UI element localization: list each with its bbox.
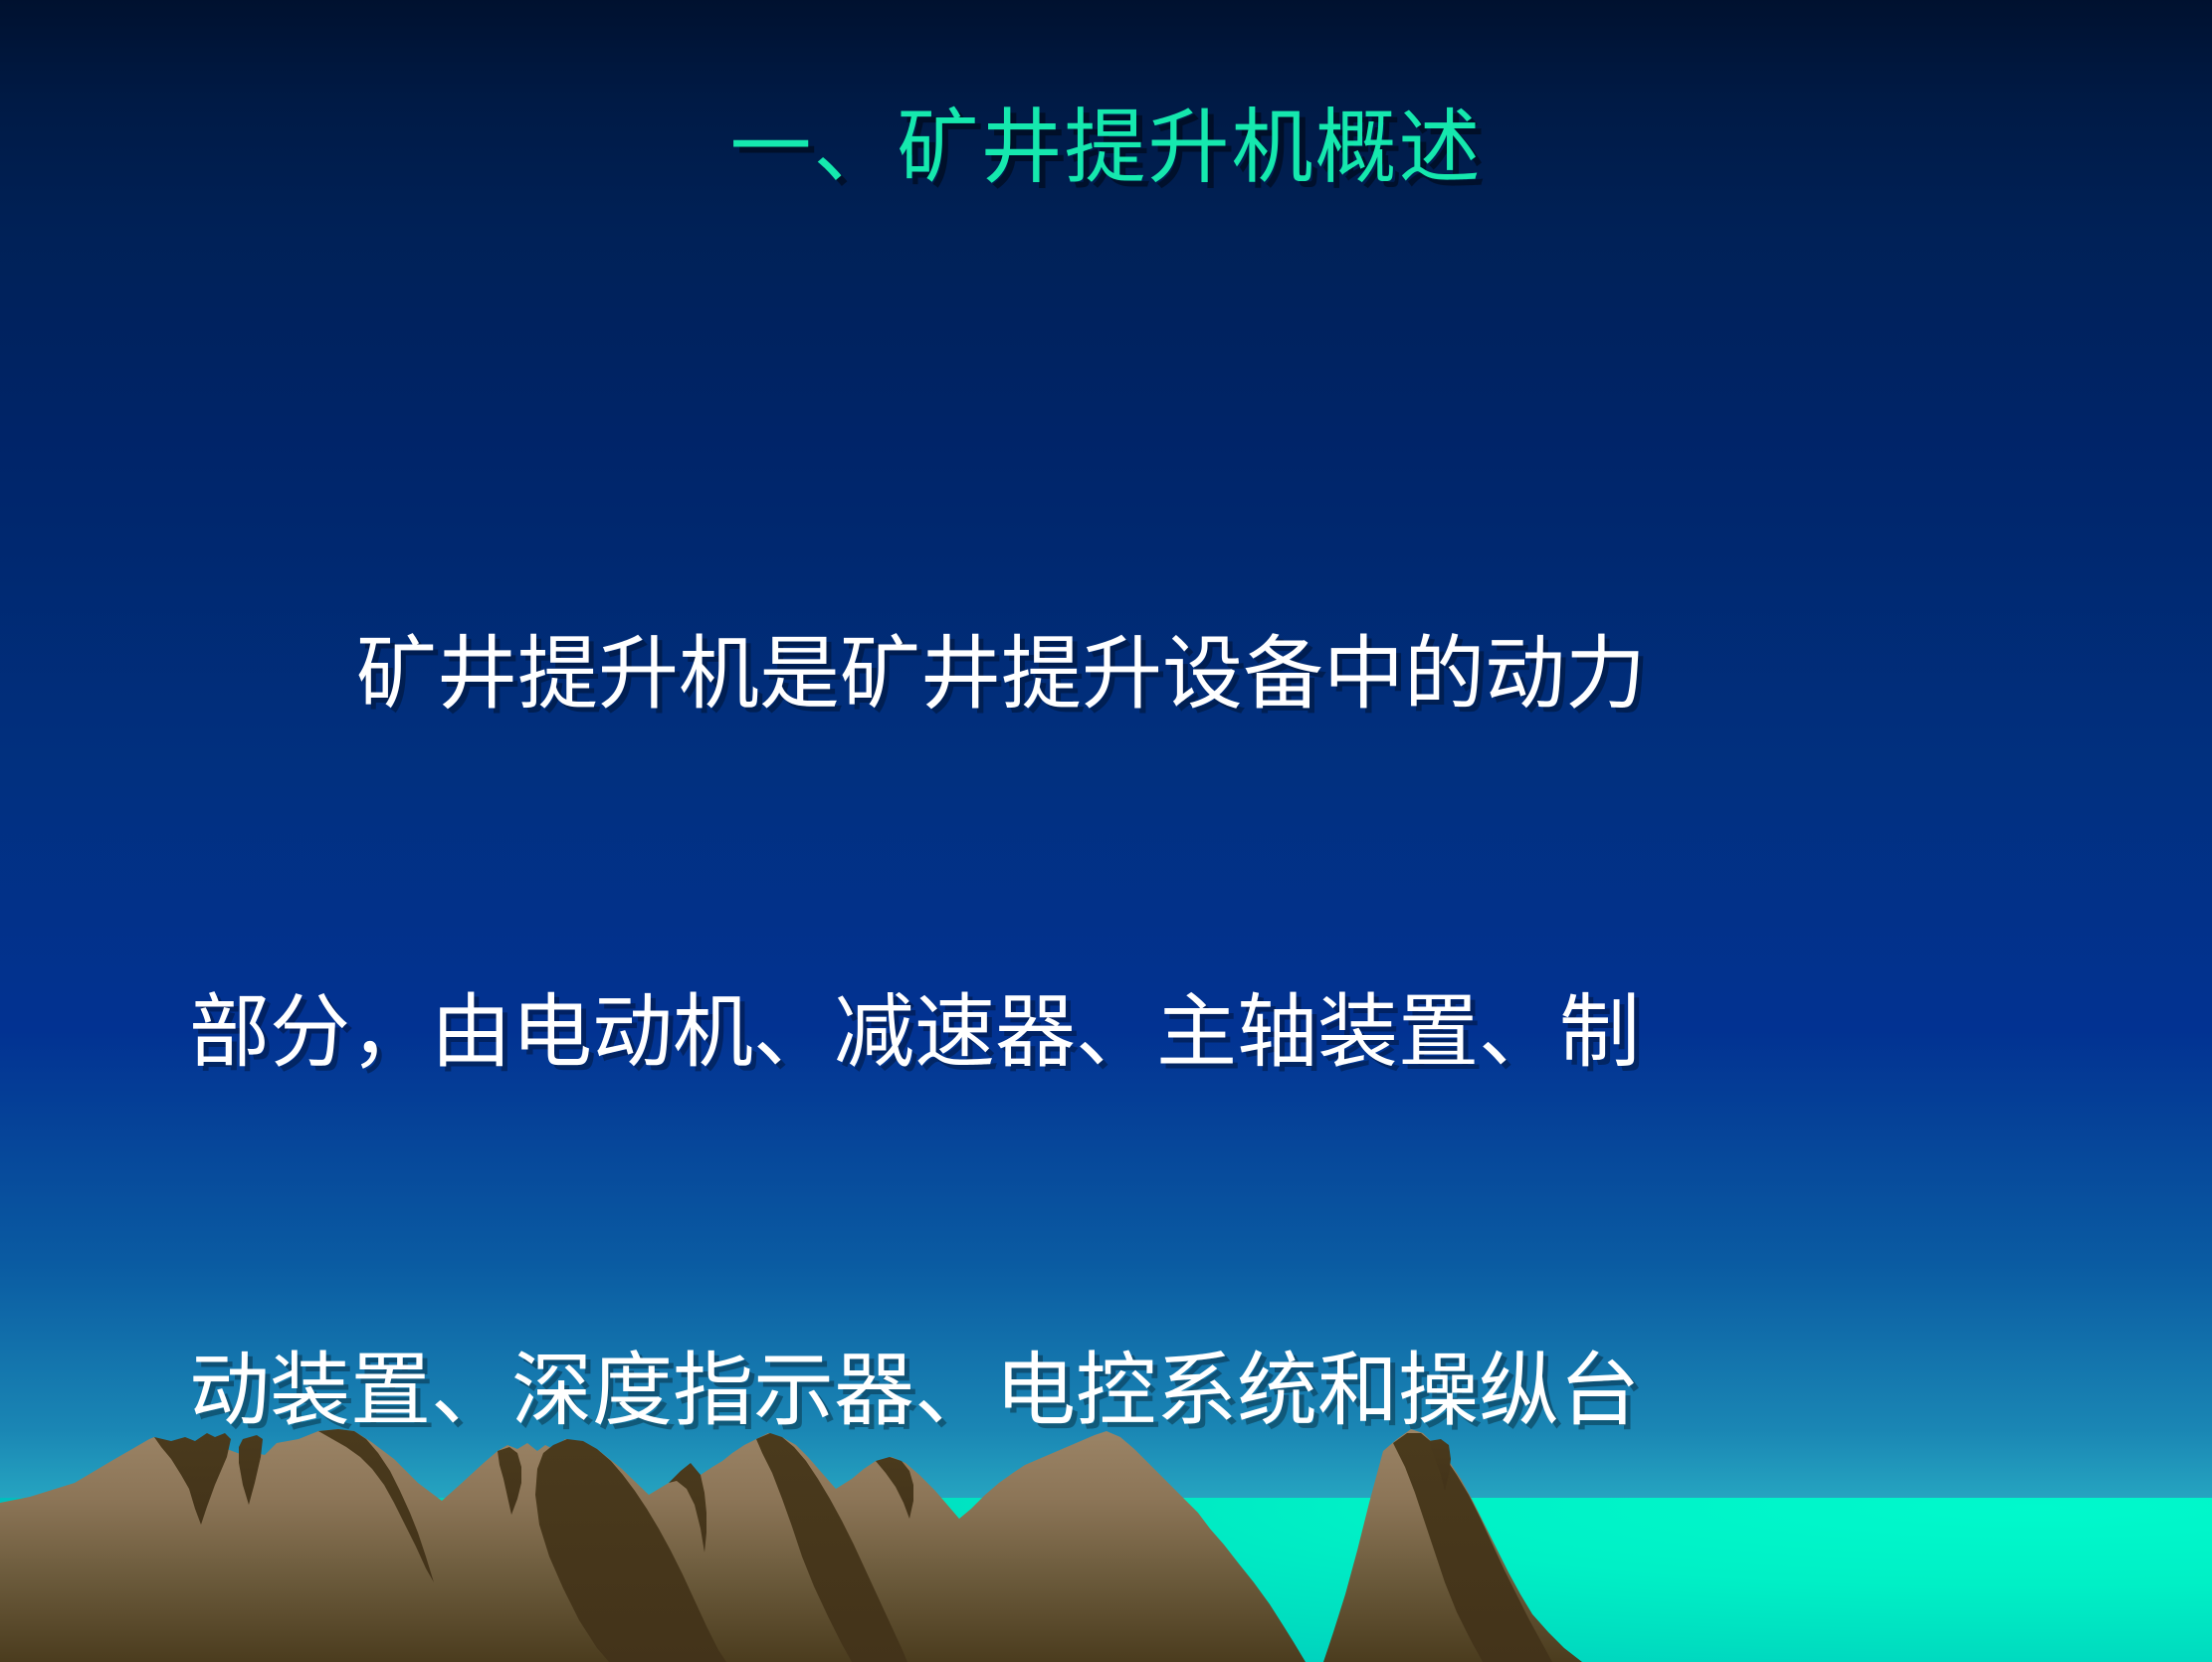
paragraph-1: 矿井提升机是矿井提升设备中的动力 部分，由电动机、减速器、主轴装置、制 动装置、… <box>189 376 2110 1662</box>
slide-body: 矿井提升机是矿井提升设备中的动力 部分，由电动机、减速器、主轴装置、制 动装置、… <box>189 376 2110 1662</box>
presentation-slide: 一、矿井提升机概述 矿井提升机是矿井提升设备中的动力 部分，由电动机、减速器、主… <box>0 0 2212 1662</box>
paragraph-1-line-2: 部分，由电动机、减速器、主轴装置、制 <box>189 973 2110 1093</box>
paragraph-1-line-3: 动装置、深度指示器、电控系统和操纵台 <box>189 1332 2110 1451</box>
paragraph-1-line-1: 矿井提升机是矿井提升设备中的动力 <box>189 615 2110 734</box>
slide-title: 一、矿井提升机概述 <box>0 107 2212 189</box>
